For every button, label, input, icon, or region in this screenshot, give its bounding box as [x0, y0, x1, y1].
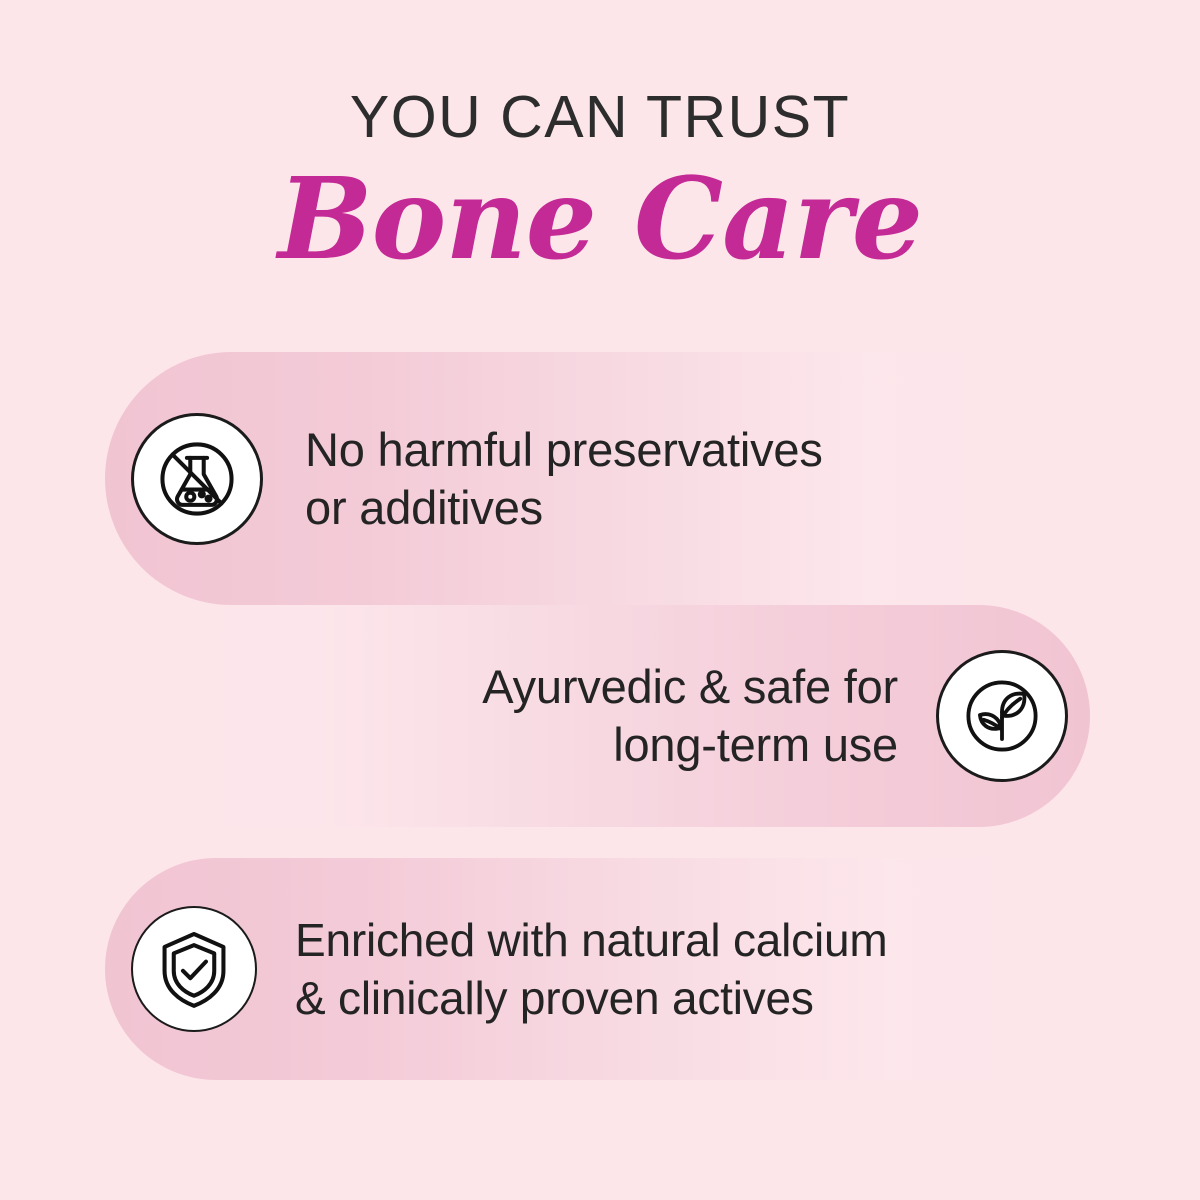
feature-card-ayurvedic-safe: Ayurvedic & safe for long-term use [90, 605, 1090, 827]
feature-line: Ayurvedic & safe for [482, 658, 898, 716]
heading-block: YOU CAN TRUST Bone Care [0, 84, 1200, 284]
eyebrow-text: YOU CAN TRUST [0, 84, 1200, 150]
no-chemicals-icon [131, 413, 263, 545]
feature-line: & clinically proven actives [295, 969, 887, 1027]
feature-line: No harmful preservatives [305, 421, 823, 479]
page-title: Bone Care [0, 156, 1200, 284]
feature-card-text: No harmful preservatives or additives [305, 421, 823, 537]
feature-card-natural-calcium: Enriched with natural calcium & clinical… [105, 858, 1105, 1080]
feature-card-no-harmful-preservatives: No harmful preservatives or additives [105, 352, 1105, 605]
feature-line: or additives [305, 479, 823, 537]
shield-check-icon [131, 906, 257, 1032]
feature-line: long-term use [482, 716, 898, 774]
plant-sprout-icon [936, 650, 1068, 782]
bone-care-trust-poster: YOU CAN TRUST Bone Care No harmful prese… [0, 0, 1200, 1200]
feature-card-text: Ayurvedic & safe for long-term use [482, 658, 898, 774]
feature-card-text: Enriched with natural calcium & clinical… [295, 911, 887, 1027]
feature-line: Enriched with natural calcium [295, 911, 887, 969]
